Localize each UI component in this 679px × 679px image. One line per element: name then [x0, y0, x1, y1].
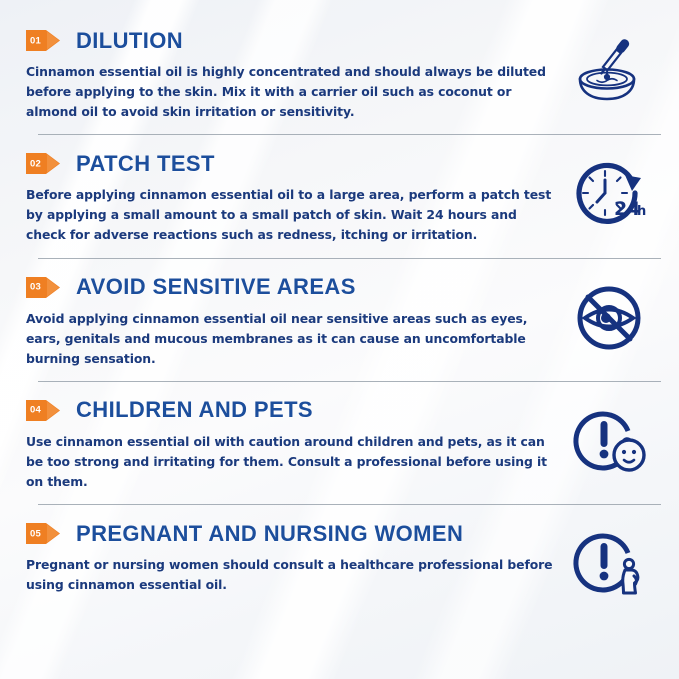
section-body: Avoid applying cinnamon essential oil ne… [26, 309, 553, 369]
heading-row: 03 AVOID SENSITIVE AREAS [26, 275, 553, 300]
step-number-badge: 03 [26, 275, 66, 300]
section-avoid-sensitive-areas: 03 AVOID SENSITIVE AREAS Avoid applying … [26, 275, 657, 398]
section-icon: 24 h [563, 153, 655, 235]
section-icon [563, 30, 655, 112]
section-patch-test: 02 PATCH TEST Before applying cinnamon e… [26, 151, 657, 274]
section-body: Pregnant or nursing women should consult… [26, 555, 553, 595]
section-children-and-pets: 04 CHILDREN AND PETS Use cinnamon essent… [26, 398, 657, 521]
step-number-label: 01 [30, 35, 41, 46]
warning-pregnant-icon [570, 527, 648, 601]
section-divider [38, 258, 661, 259]
svg-text:h: h [637, 204, 646, 219]
section-heading: AVOID SENSITIVE AREAS [76, 276, 356, 298]
step-number-label: 03 [30, 282, 41, 293]
clock-24h-icon: 24 h [569, 157, 649, 231]
section-body: Use cinnamon essential oil with caution … [26, 432, 553, 492]
heading-row: 01 DILUTION [26, 28, 553, 53]
heading-row: 05 PREGNANT AND NURSING WOMEN [26, 521, 553, 546]
section-heading: CHILDREN AND PETS [76, 399, 313, 421]
step-number-label: 04 [30, 405, 41, 416]
section-body: Before applying cinnamon essential oil t… [26, 185, 553, 245]
section-icon [563, 400, 655, 482]
step-number-badge: 01 [26, 28, 66, 53]
section-divider [38, 134, 661, 135]
infographic-root: 01 DILUTION Cinnamon essential oil is hi… [0, 0, 679, 679]
section-body: Cinnamon essential oil is highly concent… [26, 62, 553, 122]
dropper-bowl-icon [569, 35, 649, 107]
section-heading: PATCH TEST [76, 153, 215, 175]
section-content: 05 PREGNANT AND NURSING WOMEN Pregnant o… [26, 521, 657, 605]
section-heading: DILUTION [76, 30, 183, 52]
warning-baby-icon [570, 405, 648, 477]
step-number-label: 02 [30, 158, 41, 169]
section-divider [38, 504, 661, 505]
section-divider [38, 381, 661, 382]
section-heading: PREGNANT AND NURSING WOMEN [76, 523, 463, 545]
step-number-label: 05 [30, 528, 41, 539]
sections-list: 01 DILUTION Cinnamon essential oil is hi… [0, 0, 679, 605]
section-icon [563, 523, 655, 605]
no-eye-icon [573, 282, 645, 354]
section-content: 01 DILUTION Cinnamon essential oil is hi… [26, 28, 657, 122]
section-content: 04 CHILDREN AND PETS Use cinnamon essent… [26, 398, 657, 492]
section-dilution: 01 DILUTION Cinnamon essential oil is hi… [26, 28, 657, 151]
section-content: 02 PATCH TEST Before applying cinnamon e… [26, 151, 657, 245]
heading-row: 02 PATCH TEST [26, 151, 553, 176]
step-number-badge: 02 [26, 151, 66, 176]
step-number-badge: 04 [26, 398, 66, 423]
heading-row: 04 CHILDREN AND PETS [26, 398, 553, 423]
section-pregnant-and-nursing-women: 05 PREGNANT AND NURSING WOMEN Pregnant o… [26, 521, 657, 605]
section-icon [563, 277, 655, 359]
step-number-badge: 05 [26, 521, 66, 546]
section-content: 03 AVOID SENSITIVE AREAS Avoid applying … [26, 275, 657, 369]
